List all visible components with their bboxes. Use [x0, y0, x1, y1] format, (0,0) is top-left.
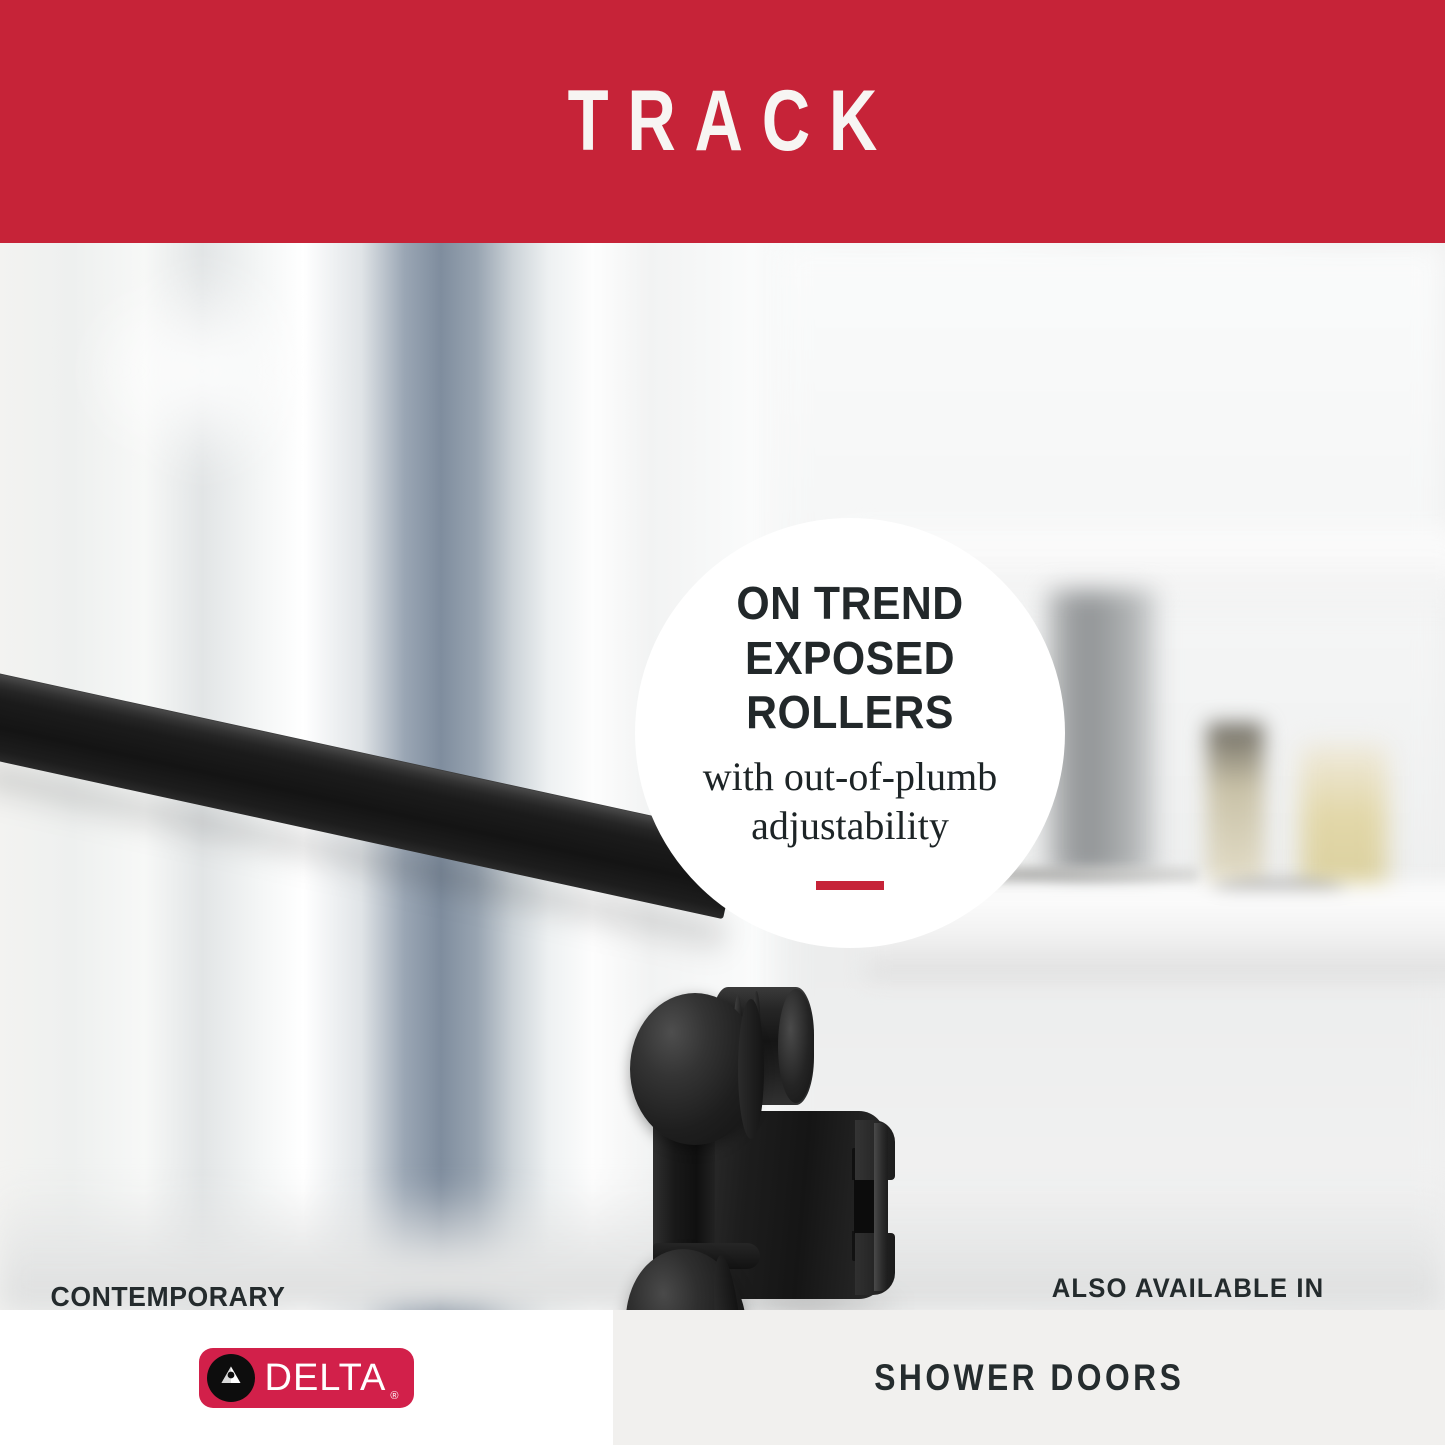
- delta-registered-mark: ®: [390, 1390, 398, 1402]
- product-caption-line1: CONTEMPORARY: [26, 1278, 311, 1310]
- footer-brand-area: DELTA ®: [0, 1310, 613, 1445]
- delta-wordmark: DELTA: [265, 1359, 387, 1397]
- roller-end-cap: [778, 989, 814, 1103]
- feature-callout-badge: ON TREND EXPOSED ROLLERS with out-of-plu…: [635, 518, 1065, 948]
- product-caption: CONTEMPORARY TRACK IN MATTE BLACK: [26, 1278, 311, 1310]
- footer-tagline-area: SHOWER DOORS: [613, 1310, 1445, 1445]
- badge-subtext-line2: adjustability: [703, 802, 997, 851]
- c-channel-edge: [874, 1123, 888, 1291]
- product-photo: ON TREND EXPOSED ROLLERS with out-of-plu…: [0, 243, 1445, 1310]
- finish-options: ALSO AVAILABLE IN CHROME BRUSHED NICKEL: [958, 1273, 1418, 1310]
- product-marketing-image: TRACK: [0, 0, 1445, 1445]
- upper-roller-edge: [738, 999, 764, 1139]
- badge-headline-line1: ON TREND: [736, 577, 963, 629]
- footer: DELTA ® SHOWER DOORS: [0, 1310, 1445, 1445]
- footer-tagline: SHOWER DOORS: [874, 1357, 1184, 1399]
- finish-options-title: ALSO AVAILABLE IN: [970, 1273, 1407, 1304]
- badge-subtext-line1: with out-of-plumb: [703, 753, 997, 802]
- badge-divider-rule: [816, 881, 884, 890]
- header-banner: TRACK: [0, 0, 1445, 243]
- badge-subtext: with out-of-plumb adjustability: [703, 753, 997, 851]
- delta-triangle-icon: [207, 1354, 255, 1402]
- delta-logo[interactable]: DELTA ®: [199, 1348, 415, 1408]
- page-title: TRACK: [549, 72, 896, 171]
- badge-headline-line2: EXPOSED ROLLERS: [689, 631, 1011, 740]
- badge-headline: ON TREND EXPOSED ROLLERS: [689, 576, 1011, 739]
